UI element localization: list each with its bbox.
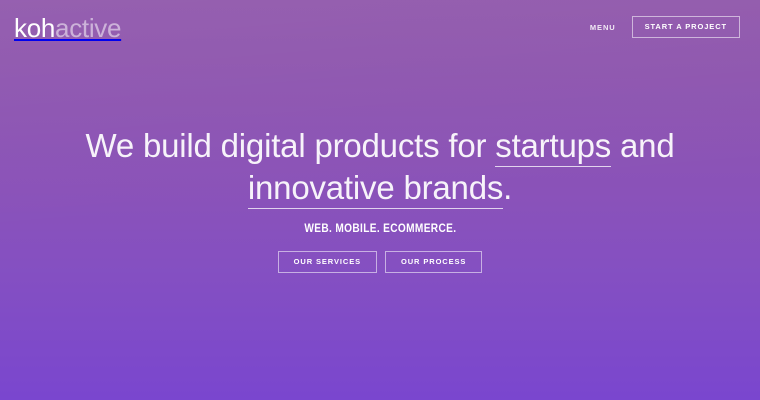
landing-page: kohactive MENU START A PROJECT We build …: [0, 0, 760, 400]
headline-link-innovative-brands[interactable]: innovative brands: [248, 169, 503, 209]
headline-line1-before: We build digital products for: [85, 127, 495, 164]
our-process-button[interactable]: OUR PROCESS: [385, 251, 482, 273]
our-services-button[interactable]: OUR SERVICES: [278, 251, 377, 273]
headline-link-startups[interactable]: startups: [495, 127, 611, 167]
hero-headline: We build digital products for startups a…: [60, 125, 700, 209]
hero-cta-row: OUR SERVICES OUR PROCESS: [278, 251, 483, 273]
hero-subhead: WEB. MOBILE. ECOMMERCE.: [304, 223, 456, 235]
hero-section: We build digital products for startups a…: [0, 0, 760, 400]
headline-line2-after: .: [503, 169, 512, 206]
headline-line1-after: and: [611, 127, 674, 164]
